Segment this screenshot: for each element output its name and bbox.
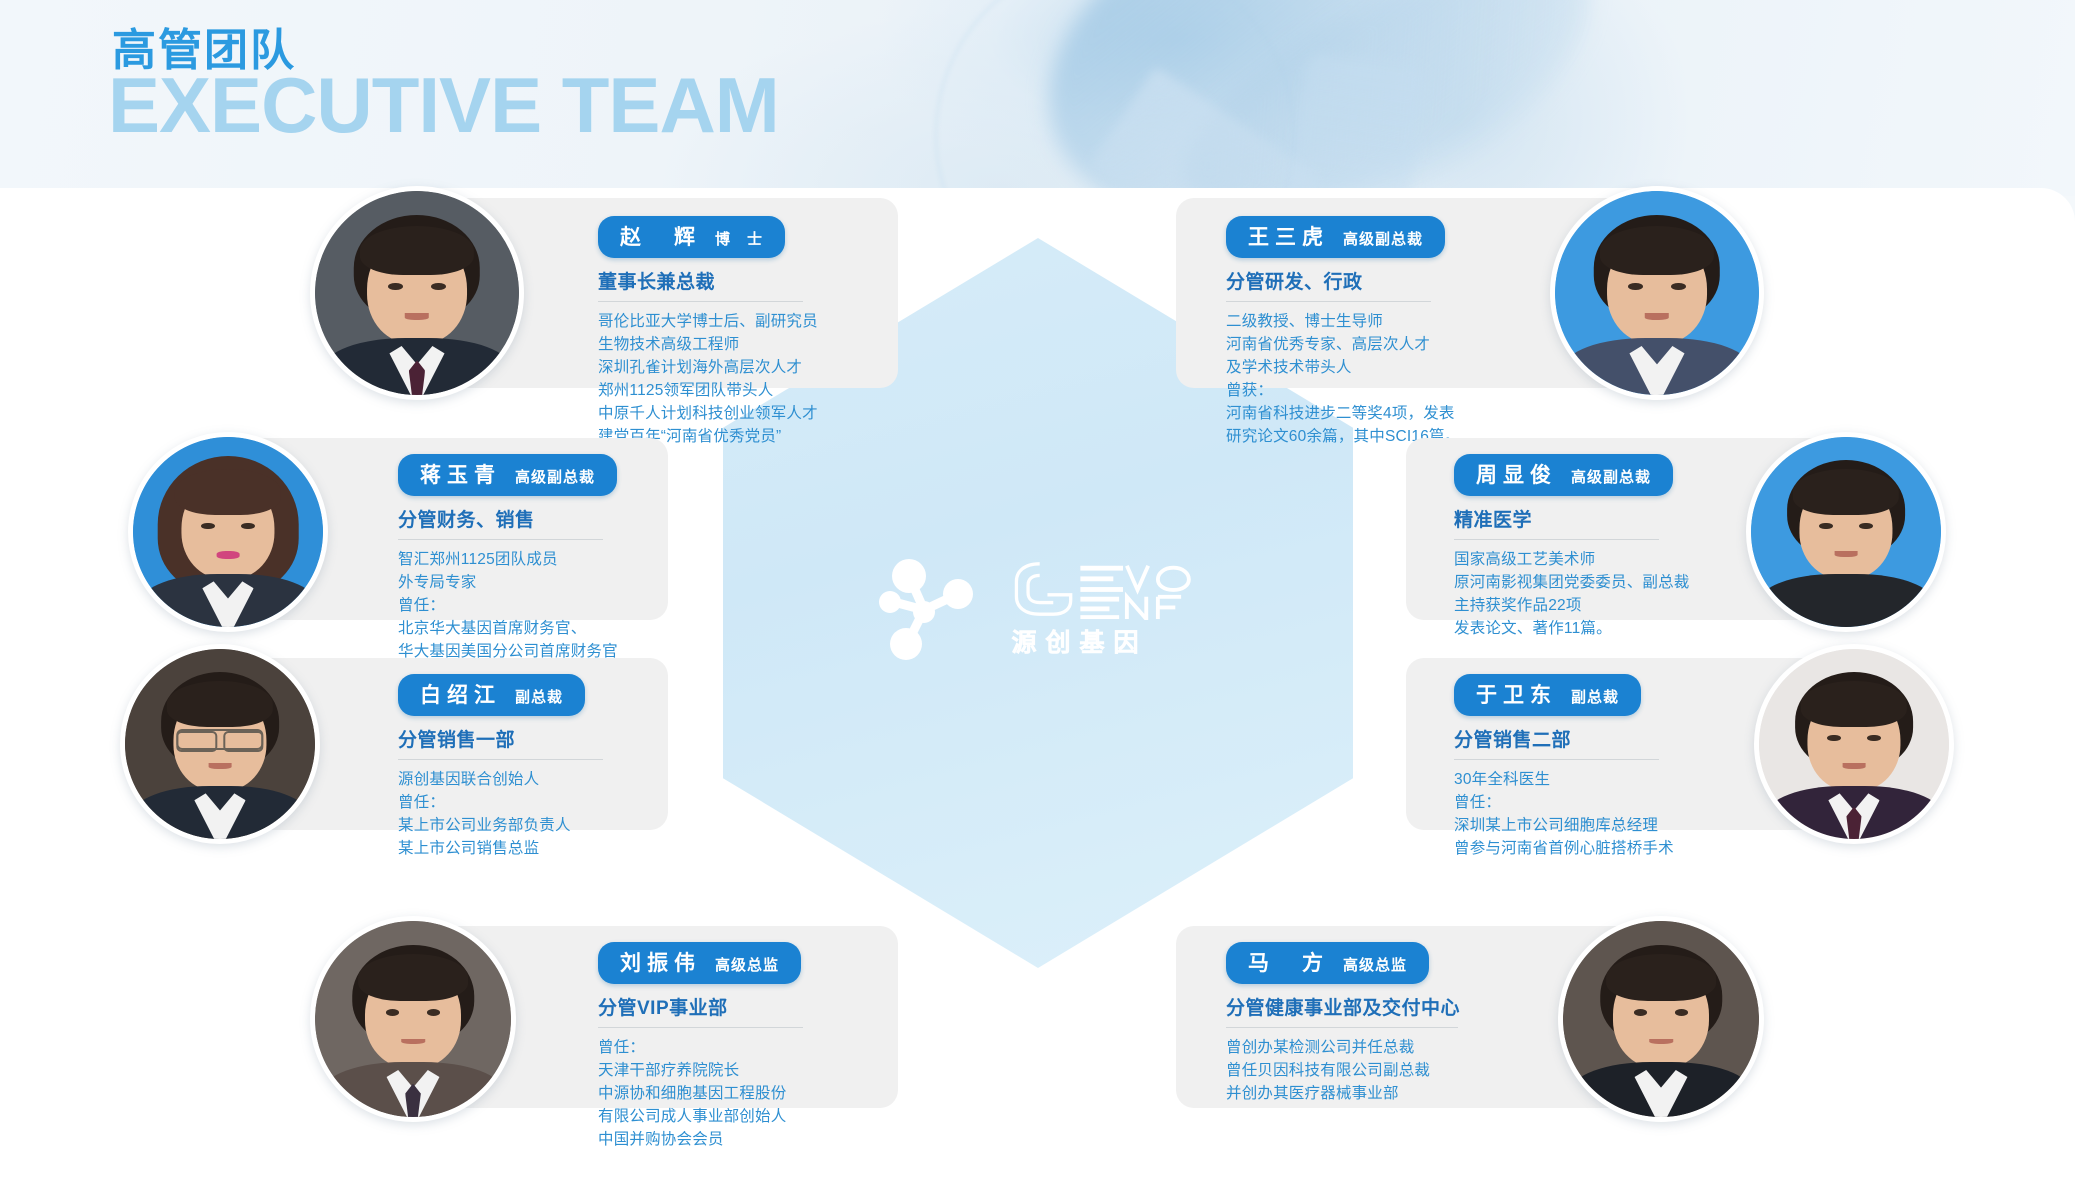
member-name: 王三虎: [1248, 221, 1329, 251]
member-name-badge: 马 方 高级总监: [1226, 942, 1429, 984]
avatar-portrait: [1751, 437, 1941, 627]
list-item: 中原千人计划科技创业领军人才: [598, 402, 818, 425]
member-bullets: 二级教授、博士生导师 河南省优秀专家、高层次人才 及学术技术带头人 曾获： 河南…: [1226, 310, 1460, 448]
brand-lockup: 源创基因: [1010, 558, 1205, 659]
list-item: 中国并购协会会员: [598, 1128, 803, 1151]
member-name: 蒋玉青: [420, 459, 501, 489]
list-item: 并创办其医疗器械事业部: [1226, 1082, 1460, 1105]
list-item: 河南省优秀专家、高层次人才: [1226, 333, 1460, 356]
member-title: 高级副总裁: [1571, 466, 1651, 487]
member-name-badge: 白绍江 副总裁: [398, 674, 585, 716]
list-item: 河南省科技进步二等奖4项，发表: [1226, 402, 1460, 425]
member-name: 周显俊: [1476, 459, 1557, 489]
member-card-bai-shaojiang[interactable]: 白绍江 副总裁 分管销售一部 源创基因联合创始人 曾任： 某上市公司业务部负责人…: [218, 658, 668, 830]
member-title: 博 士: [715, 228, 763, 249]
avatar: [1550, 186, 1764, 400]
member-card-zhao-hui[interactable]: 赵 辉 博 士 董事长兼总裁 哥伦比亚大学博士后、副研究员 生物技术高级工程师 …: [398, 198, 898, 388]
member-card-wang-sanhu[interactable]: 王三虎 高级副总裁 分管研发、行政 二级教授、博士生导师 河南省优秀专家、高层次…: [1176, 198, 1676, 388]
divider: [1226, 301, 1431, 302]
page-title-english: EXECUTIVE TEAM: [108, 60, 779, 151]
member-bullets: 国家高级工艺美术师 原河南影视集团党委委员、副总裁 主持获奖作品22项 发表论文…: [1454, 548, 1690, 640]
list-item: 某上市公司业务部负责人: [398, 814, 603, 837]
list-item: 曾任：: [1454, 791, 1674, 814]
list-item: 中源协和细胞基因工程股份: [598, 1082, 803, 1105]
member-title: 高级副总裁: [515, 466, 595, 487]
member-role: 分管销售一部: [398, 725, 603, 752]
member-name: 马 方: [1248, 947, 1329, 977]
member-title: 副总裁: [515, 686, 563, 707]
list-item: 主持获奖作品22项: [1454, 594, 1690, 617]
list-item: 国家高级工艺美术师: [1454, 548, 1690, 571]
member-name-badge: 周显俊 高级副总裁: [1454, 454, 1673, 496]
member-title: 高级总监: [1343, 954, 1407, 975]
member-bullets: 30年全科医生 曾任： 深圳某上市公司细胞库总经理 曾参与河南省首例心脏搭桥手术: [1454, 768, 1674, 860]
member-info: 白绍江 副总裁 分管销售一部 源创基因联合创始人 曾任： 某上市公司业务部负责人…: [398, 674, 603, 860]
page-header: 高管团队 EXECUTIVE TEAM: [0, 0, 2075, 196]
member-bullets: 曾任： 天津干部疗养院院长 中源协和细胞基因工程股份 有限公司成人事业部创始人 …: [598, 1036, 803, 1151]
list-item: 有限公司成人事业部创始人: [598, 1105, 803, 1128]
member-bullets: 曾创办某检测公司并任总裁 曾任贝因科技有限公司副总裁 并创办其医疗器械事业部: [1226, 1036, 1460, 1105]
list-item: 曾任：: [598, 1036, 803, 1059]
member-name: 于卫东: [1476, 679, 1557, 709]
avatar: [1746, 432, 1946, 632]
list-item: 曾创办某检测公司并任总裁: [1226, 1036, 1460, 1059]
divider: [1454, 539, 1659, 540]
member-role: 分管健康事业部及交付中心: [1226, 993, 1460, 1020]
avatar: [310, 186, 524, 400]
member-role: 精准医学: [1454, 505, 1690, 532]
member-name-badge: 刘振伟 高级总监: [598, 942, 801, 984]
member-title: 副总裁: [1571, 686, 1619, 707]
member-info: 蒋玉青 高级副总裁 分管财务、销售 智汇郑州1125团队成员 外专局专家 曾任：…: [398, 454, 618, 663]
center-logo: 源创基因: [723, 543, 1353, 673]
divider: [398, 539, 603, 540]
member-info: 刘振伟 高级总监 分管VIP事业部 曾任： 天津干部疗养院院长 中源协和细胞基因…: [598, 942, 803, 1151]
member-name: 刘振伟: [620, 947, 701, 977]
executive-team-page: 高管团队 EXECUTIVE TEAM: [0, 0, 2075, 1199]
member-name-badge: 蒋玉青 高级副总裁: [398, 454, 617, 496]
list-item: 深圳孔雀计划海外高层次人才: [598, 356, 818, 379]
member-info: 王三虎 高级副总裁 分管研发、行政 二级教授、博士生导师 河南省优秀专家、高层次…: [1226, 216, 1460, 448]
avatar-portrait: [133, 437, 323, 627]
list-item: 天津干部疗养院院长: [598, 1059, 803, 1082]
member-bullets: 智汇郑州1125团队成员 外专局专家 曾任： 北京华大基因首席财务官、 华大基因…: [398, 548, 618, 663]
list-item: 源创基因联合创始人: [398, 768, 603, 791]
divider: [398, 759, 603, 760]
list-item: 深圳某上市公司细胞库总经理: [1454, 814, 1674, 837]
eyeglasses-icon: [176, 729, 263, 750]
avatar: [128, 432, 328, 632]
member-info: 于卫东 副总裁 分管销售二部 30年全科医生 曾任： 深圳某上市公司细胞库总经理…: [1454, 674, 1674, 860]
member-bullets: 哥伦比亚大学博士后、副研究员 生物技术高级工程师 深圳孔雀计划海外高层次人才 郑…: [598, 310, 818, 448]
list-item: 某上市公司销售总监: [398, 837, 603, 860]
avatar: [1558, 916, 1764, 1122]
member-name-badge: 赵 辉 博 士: [598, 216, 785, 258]
member-card-jiang-yuqing[interactable]: 蒋玉青 高级副总裁 分管财务、销售 智汇郑州1125团队成员 外专局专家 曾任：…: [218, 438, 668, 620]
member-name-badge: 王三虎 高级副总裁: [1226, 216, 1445, 258]
list-item: 30年全科医生: [1454, 768, 1674, 791]
divider: [598, 301, 803, 302]
list-item: 曾任贝因科技有限公司副总裁: [1226, 1059, 1460, 1082]
avatar-portrait: [1563, 921, 1759, 1117]
list-item: 曾任：: [398, 594, 618, 617]
divider: [1454, 759, 1659, 760]
avatar: [310, 916, 516, 1122]
list-item: 智汇郑州1125团队成员: [398, 548, 618, 571]
list-item: 外专局专家: [398, 571, 618, 594]
avatar-portrait: [125, 649, 315, 839]
list-item: 生物技术高级工程师: [598, 333, 818, 356]
member-card-zhou-xianjun[interactable]: 周显俊 高级副总裁 精准医学 国家高级工艺美术师 原河南影视集团党委委员、副总裁…: [1406, 438, 1856, 620]
list-item: 及学术技术带头人: [1226, 356, 1460, 379]
member-card-ma-fang[interactable]: 马 方 高级总监 分管健康事业部及交付中心 曾创办某检测公司并任总裁 曾任贝因科…: [1176, 926, 1676, 1108]
avatar-portrait: [1555, 191, 1759, 395]
member-card-liu-zhenwei[interactable]: 刘振伟 高级总监 分管VIP事业部 曾任： 天津干部疗养院院长 中源协和细胞基因…: [398, 926, 898, 1108]
member-name: 赵 辉: [620, 221, 701, 251]
list-item: 原河南影视集团党委委员、副总裁: [1454, 571, 1690, 594]
avatar-portrait: [315, 191, 519, 395]
member-title: 高级总监: [715, 954, 779, 975]
main-panel: 源创基因 赵 辉 博 士 董事长兼总裁 哥伦比亚大学博士后、副研究员 生物技术高…: [0, 188, 2075, 1199]
member-role: 分管销售二部: [1454, 725, 1674, 752]
list-item: 郑州1125领军团队带头人: [598, 379, 818, 402]
member-role: 分管财务、销售: [398, 505, 618, 532]
list-item: 发表论文、著作11篇。: [1454, 617, 1690, 640]
evogene-wordmark-icon: [1010, 558, 1205, 620]
member-name-badge: 于卫东 副总裁: [1454, 674, 1641, 716]
member-title: 高级副总裁: [1343, 228, 1423, 249]
member-info: 赵 辉 博 士 董事长兼总裁 哥伦比亚大学博士后、副研究员 生物技术高级工程师 …: [598, 216, 818, 448]
list-item: 曾获：: [1226, 379, 1460, 402]
divider: [1226, 1027, 1458, 1028]
member-bullets: 源创基因联合创始人 曾任： 某上市公司业务部负责人 某上市公司销售总监: [398, 768, 603, 860]
brand-name-chinese: 源创基因: [1010, 623, 1205, 659]
member-info: 马 方 高级总监 分管健康事业部及交付中心 曾创办某检测公司并任总裁 曾任贝因科…: [1226, 942, 1460, 1105]
divider: [598, 1027, 803, 1028]
list-item: 北京华大基因首席财务官、: [398, 617, 618, 640]
member-card-yu-weidong[interactable]: 于卫东 副总裁 分管销售二部 30年全科医生 曾任： 深圳某上市公司细胞库总经理…: [1406, 658, 1856, 830]
member-role: 分管研发、行政: [1226, 267, 1460, 294]
avatar-portrait: [1759, 649, 1949, 839]
member-role: 董事长兼总裁: [598, 267, 818, 294]
list-item: 二级教授、博士生导师: [1226, 310, 1460, 333]
member-info: 周显俊 高级副总裁 精准医学 国家高级工艺美术师 原河南影视集团党委委员、副总裁…: [1454, 454, 1690, 640]
member-name: 白绍江: [420, 679, 501, 709]
avatar-portrait: [315, 921, 511, 1117]
list-item: 哥伦比亚大学博士后、副研究员: [598, 310, 818, 333]
avatar: [120, 644, 320, 844]
list-item: 曾参与河南省首例心脏搭桥手术: [1454, 837, 1674, 860]
avatar: [1754, 644, 1954, 844]
list-item: 曾任：: [398, 791, 603, 814]
member-role: 分管VIP事业部: [598, 993, 803, 1020]
molecule-icon: [872, 554, 984, 662]
